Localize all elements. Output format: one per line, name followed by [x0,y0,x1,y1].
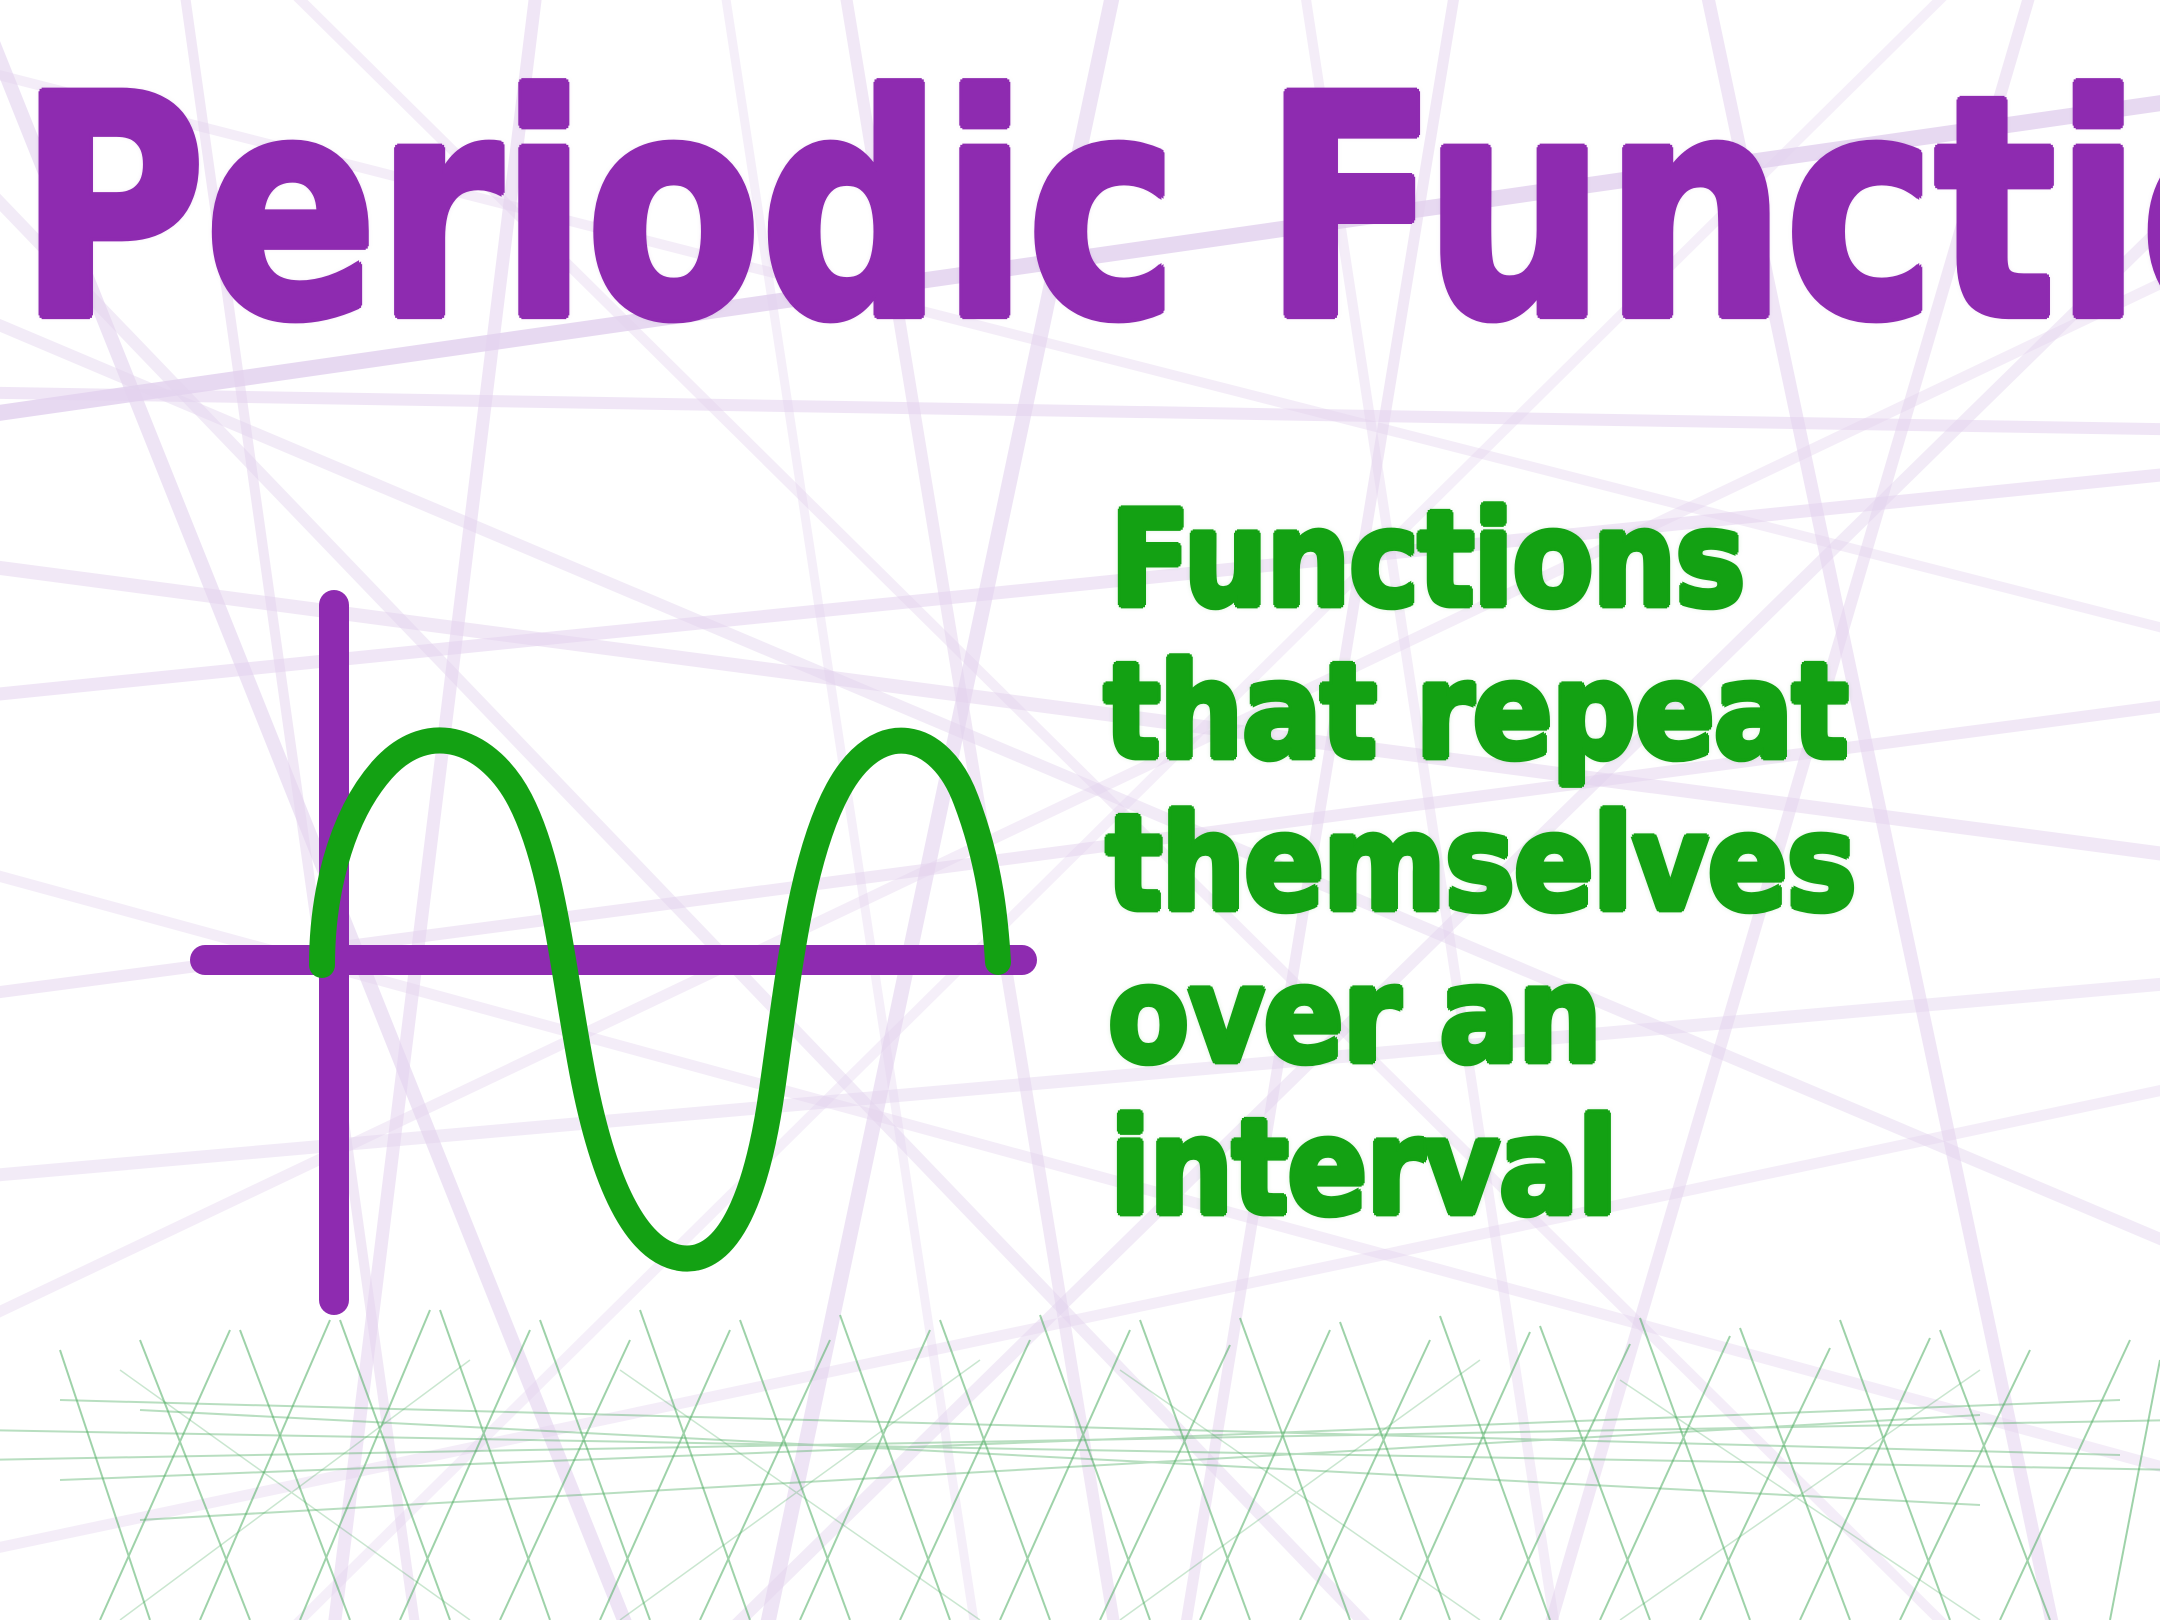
definition-line-1: Functions [1110,474,2110,644]
definition-line-5: interval [1110,1082,2110,1252]
title-text: Periodic Function [18,58,2160,363]
slide-canvas: Periodic Function Functions that repeat … [0,0,2160,1620]
definition-line-4: over an [1108,930,2110,1100]
slide-title: Periodic Function [18,58,2138,318]
definition-text-block: Functions that repeat themselves over an… [1110,474,2110,1234]
definition-line-2: that repeat [1104,626,2110,796]
definition-line-3: themselves [1106,778,2110,948]
